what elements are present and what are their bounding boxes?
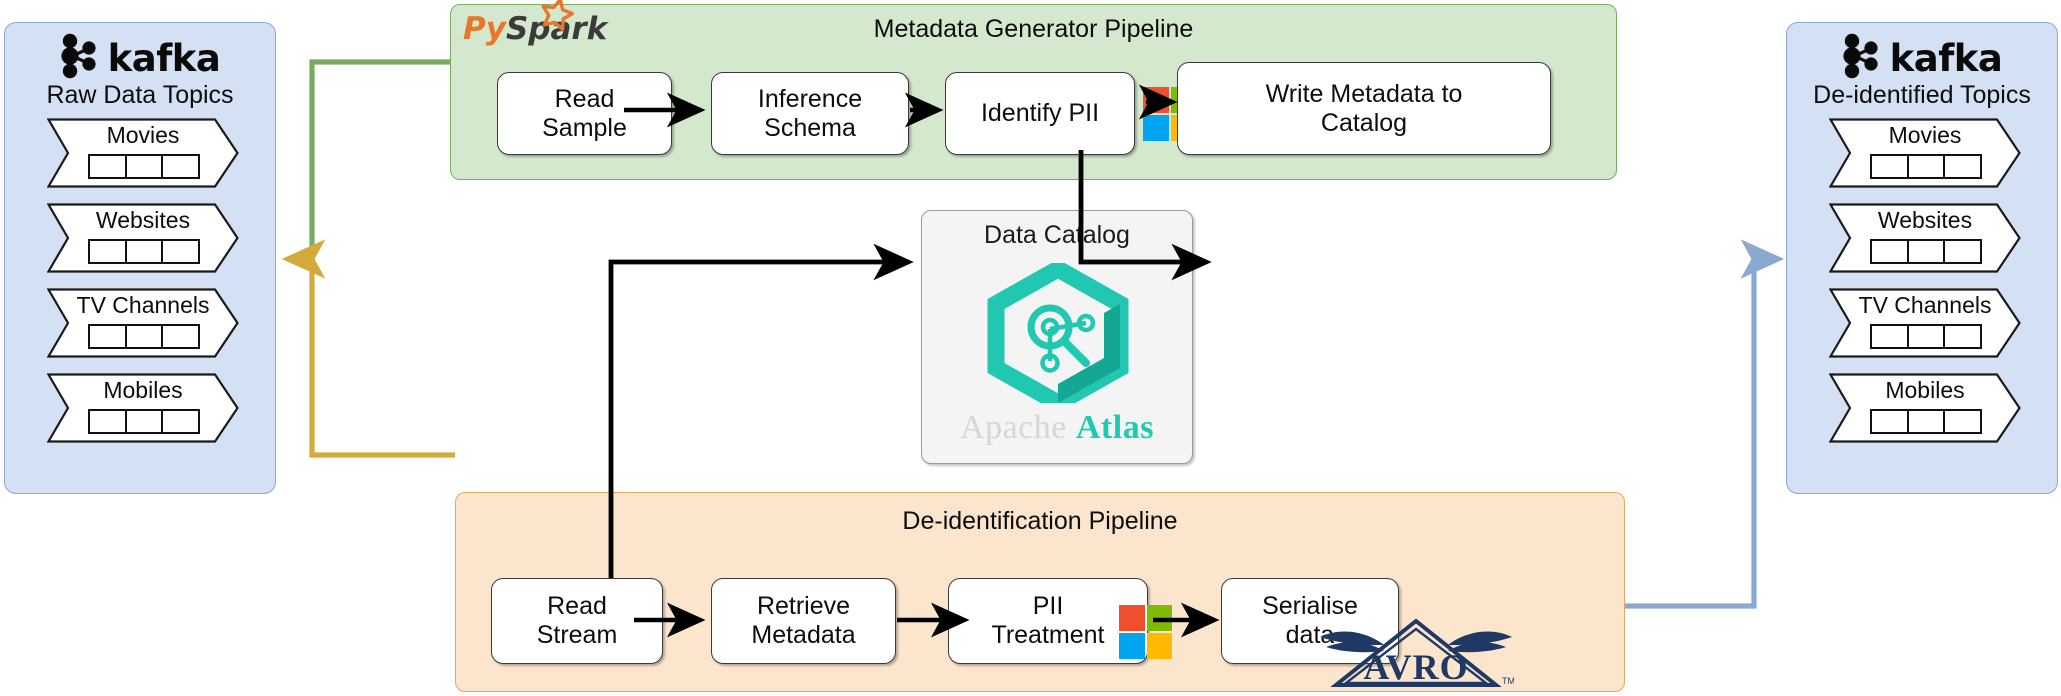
topic-partitions	[1870, 239, 1982, 264]
connector-raw-topics-to-metadata-pipeline	[312, 62, 450, 259]
kafka-wordmark: kafka	[108, 37, 221, 80]
step-read-sample[interactable]: Read Sample	[497, 72, 672, 155]
topic-partitions	[88, 324, 200, 349]
apache-atlas-hexagon-icon	[978, 263, 1138, 403]
atlas-wordmark-apache: Apache	[960, 409, 1067, 446]
svg-text:AVRO: AVRO	[1363, 647, 1468, 687]
topic-partitions	[1870, 324, 1982, 349]
atlas-wordmark-atlas: Atlas	[1076, 409, 1154, 446]
kafka-raw-brand: kafka	[5, 33, 275, 84]
step-write-metadata-to-catalog[interactable]: Write Metadata to Catalog	[1177, 62, 1551, 155]
kafka-logo-icon	[60, 33, 100, 84]
data-catalog-title: Data Catalog	[922, 221, 1192, 250]
topic-partitions	[1870, 154, 1982, 179]
topic-tv-channels-deid[interactable]: TV Channels	[1829, 288, 2021, 358]
metadata-generator-pipeline: Metadata Generator Pipeline PySpark Read…	[450, 4, 1617, 180]
kafka-deid-brand: kafka	[1787, 33, 2057, 84]
kafka-wordmark: kafka	[1890, 37, 2003, 80]
avro-logo-icon: AVRO TM	[1318, 605, 1514, 691]
microsoft-presidio-squares-icon	[1119, 605, 1172, 659]
pyspark-star-icon	[539, 0, 575, 31]
pyspark-logo: PySpark	[463, 11, 607, 47]
topic-movies-deid[interactable]: Movies	[1829, 118, 2021, 188]
apache-atlas-wordmark: Apache Atlas	[922, 409, 1192, 447]
kafka-deid-subtitle: De-identified Topics	[1787, 81, 2057, 110]
topic-mobiles-raw[interactable]: Mobiles	[47, 373, 239, 443]
svg-text:TM: TM	[1502, 676, 1514, 686]
deidentification-pipeline: De-identification Pipeline Read Stream R…	[455, 492, 1625, 692]
step-pii-treatment[interactable]: PII Treatment	[948, 578, 1148, 664]
topic-partitions	[1870, 409, 1982, 434]
topic-partitions	[88, 239, 200, 264]
data-catalog-card[interactable]: Data Catalog Apache Atlas	[921, 210, 1193, 464]
connector-raw-topics-to-deid-pipeline	[288, 259, 455, 455]
step-identify-pii[interactable]: Identify PII	[945, 72, 1135, 155]
topic-websites-raw[interactable]: Websites	[47, 203, 239, 273]
topic-tv-channels-raw[interactable]: TV Channels	[47, 288, 239, 358]
connector-serialise-to-deidentified-topics	[1625, 259, 1778, 606]
topic-partitions	[88, 409, 200, 434]
kafka-deidentified-panel: kafka De-identified Topics Movies Websit…	[1786, 22, 2058, 494]
deid-pipeline-title: De-identification Pipeline	[456, 507, 1624, 536]
pyspark-py-text: Py	[463, 11, 506, 47]
step-read-stream[interactable]: Read Stream	[491, 578, 663, 664]
step-retrieve-metadata[interactable]: Retrieve Metadata	[711, 578, 896, 664]
topic-movies-raw[interactable]: Movies	[47, 118, 239, 188]
kafka-raw-panel: kafka Raw Data Topics Movies Websites	[4, 22, 276, 494]
topic-mobiles-deid[interactable]: Mobiles	[1829, 373, 2021, 443]
architecture-diagram: kafka Raw Data Topics Movies Websites	[0, 0, 2061, 696]
kafka-raw-subtitle: Raw Data Topics	[5, 81, 275, 110]
metadata-pipeline-title: Metadata Generator Pipeline	[451, 15, 1616, 44]
step-inference-schema[interactable]: Inference Schema	[711, 72, 909, 155]
kafka-logo-icon	[1842, 33, 1882, 84]
topic-partitions	[88, 154, 200, 179]
topic-websites-deid[interactable]: Websites	[1829, 203, 2021, 273]
